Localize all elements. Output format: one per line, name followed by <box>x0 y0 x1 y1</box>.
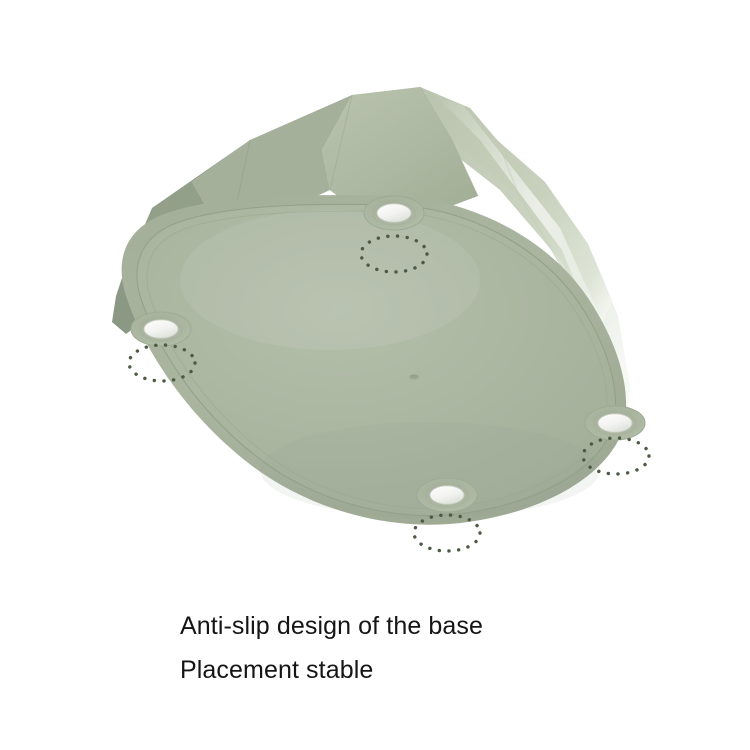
product-render-svg <box>0 0 750 600</box>
foot-pad <box>144 320 178 338</box>
foot-top <box>364 196 424 230</box>
foot-bottom <box>417 478 477 512</box>
foot-pad <box>598 414 632 432</box>
caption-block: Anti-slip design of the base Placement s… <box>180 604 720 692</box>
caption-line-2: Placement stable <box>180 648 720 692</box>
foot-pad <box>377 204 411 222</box>
foot-pad <box>430 486 464 504</box>
foot-left <box>131 312 191 346</box>
foot-right <box>585 406 645 440</box>
screenshot-root: Anti-slip design of the base Placement s… <box>0 0 750 750</box>
product-image <box>0 0 750 600</box>
center-mark <box>409 374 419 379</box>
caption-line-1: Anti-slip design of the base <box>180 604 720 648</box>
base-plate-sheen <box>180 210 480 350</box>
